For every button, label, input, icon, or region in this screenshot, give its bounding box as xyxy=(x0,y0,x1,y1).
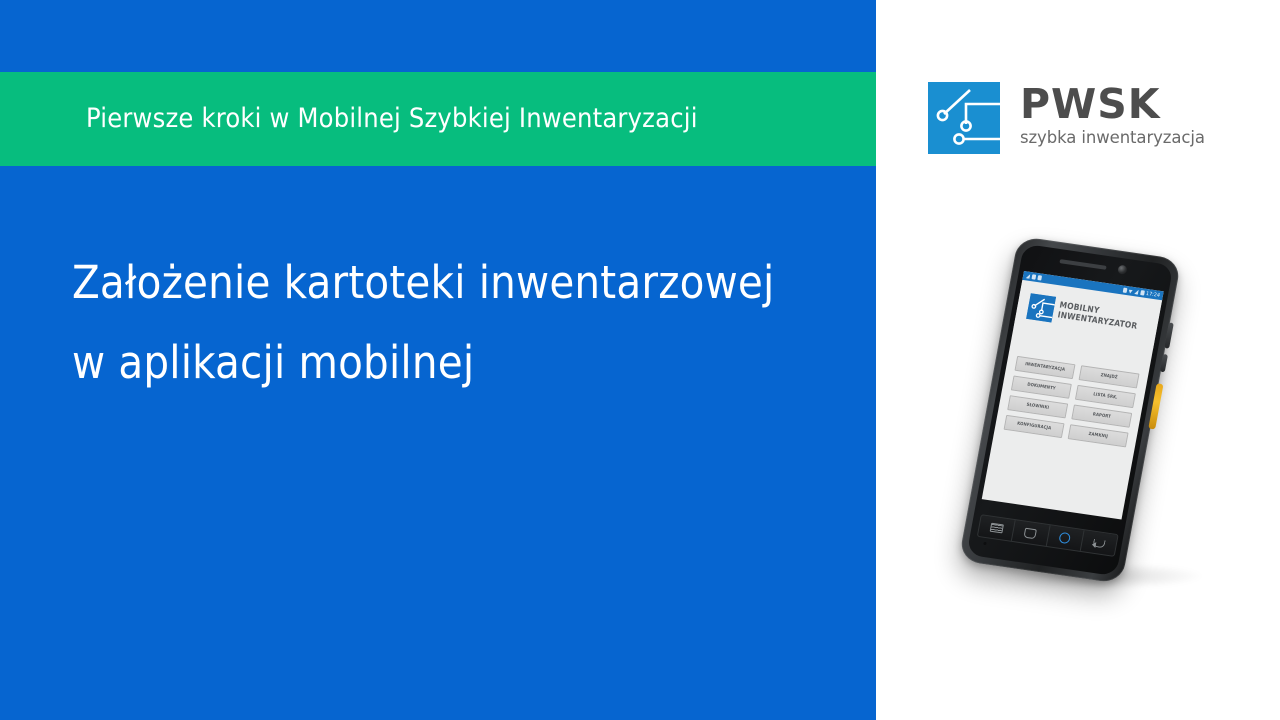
app-menu-grid: INWENTARYZACJA ZNAJDŹ DOKUMENTY LISTA ŚR… xyxy=(995,355,1148,449)
page-title: Założenie kartoteki inwentarzowej w apli… xyxy=(72,243,792,403)
device-photo: 17:24 xyxy=(986,245,1216,595)
menu-button-raport[interactable]: RAPORT xyxy=(1071,405,1132,428)
handheld-scanner-device: 17:24 xyxy=(958,236,1181,584)
battery-icon xyxy=(1140,290,1145,295)
menu-button-konfiguracja[interactable]: KONFIGURACJA xyxy=(1004,415,1065,438)
logo-text-block: PWSK szybka inwentaryzacja xyxy=(1020,82,1236,149)
alarm-icon xyxy=(1122,287,1127,292)
logo-wordmark: PWSK xyxy=(1020,82,1236,126)
scan-circle-icon xyxy=(1058,532,1071,544)
home-icon xyxy=(1024,527,1037,539)
app-logo-icon xyxy=(1026,293,1056,322)
menu-icon xyxy=(989,523,1003,534)
brand-logo: PWSK szybka inwentaryzacja xyxy=(928,82,1238,160)
menu-button-znajdz[interactable]: ZNAJDŹ xyxy=(1079,365,1140,388)
back-key[interactable] xyxy=(1081,530,1118,555)
back-arrow-icon xyxy=(1092,538,1105,548)
left-content-panel: Pierwsze kroki w Mobilnej Szybkiej Inwen… xyxy=(0,0,876,720)
app-title-block: MOBILNY INWENTARYZATOR xyxy=(1057,301,1140,332)
menu-button-slowniki[interactable]: SŁOWNIKI xyxy=(1007,395,1068,418)
wifi-icon xyxy=(1128,288,1133,293)
scan-key[interactable] xyxy=(1046,525,1084,551)
status-bar-left-icons xyxy=(1026,273,1042,280)
sim-icon xyxy=(1031,274,1036,279)
menu-button-dokumenty[interactable]: DOKUMENTY xyxy=(1011,376,1072,399)
slide-subtitle: Pierwsze kroki w Mobilnej Szybkiej Inwen… xyxy=(86,100,846,140)
signal-icon xyxy=(1026,273,1031,278)
circuit-nodes-icon xyxy=(928,82,1000,154)
menu-button-inwentaryzacja[interactable]: INWENTARYZACJA xyxy=(1015,356,1076,379)
menu-button-zamknij[interactable]: ZAMKNIJ xyxy=(1068,424,1129,447)
slide-root: Pierwsze kroki w Mobilnej Szybkiej Inwen… xyxy=(0,0,1280,720)
signal-bars-icon xyxy=(1134,289,1139,294)
logo-tagline: szybka inwentaryzacja xyxy=(1020,127,1236,149)
menu-key[interactable] xyxy=(978,515,1016,541)
status-bar-clock: 17:24 xyxy=(1145,290,1160,298)
sync-icon xyxy=(1037,275,1042,280)
right-visual-panel: PWSK szybka inwentaryzacja xyxy=(876,0,1280,720)
menu-button-lista-srk[interactable]: LISTA ŚRK. xyxy=(1075,385,1136,408)
home-key[interactable] xyxy=(1012,520,1050,546)
